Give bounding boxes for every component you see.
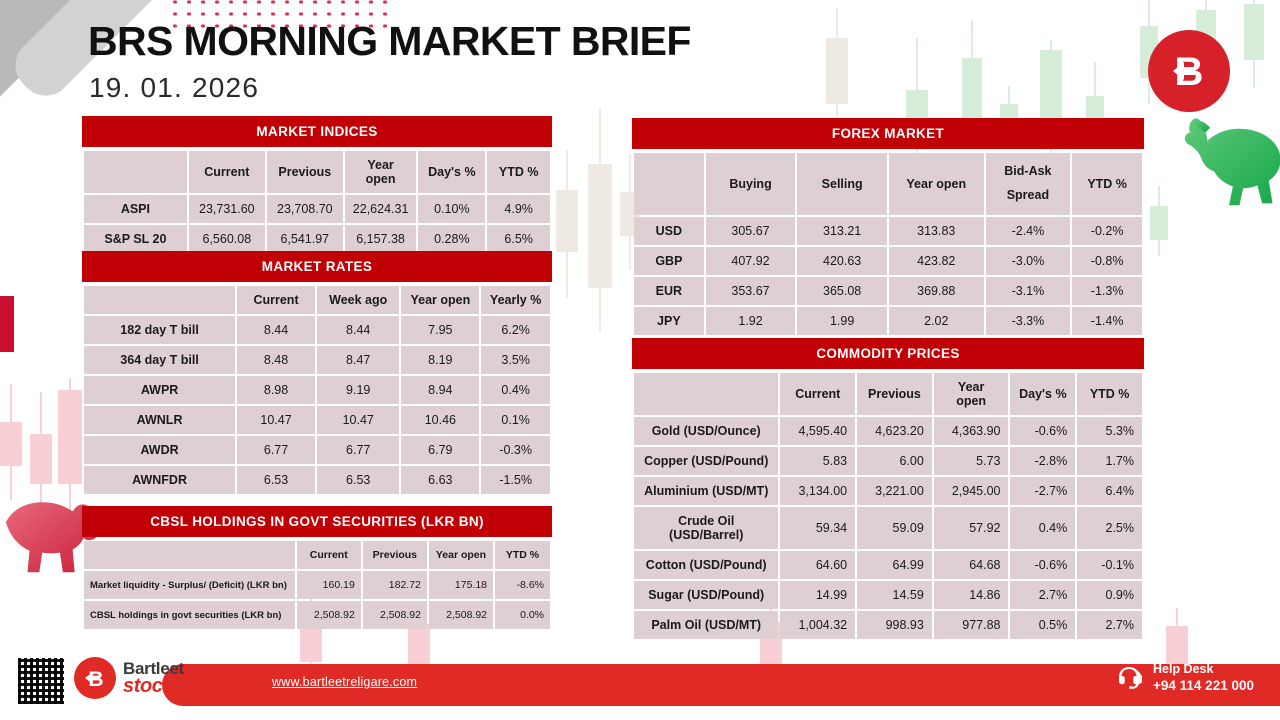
cell-value: 423.82 — [889, 247, 984, 275]
background-candlestick — [0, 384, 22, 500]
cell-value: 1.7% — [1077, 447, 1142, 475]
column-header — [634, 373, 778, 415]
cell-value: -0.1% — [1077, 551, 1142, 579]
table-header-row: Current Week ago Year open Yearly % — [84, 286, 550, 314]
column-header: YTD % — [1077, 373, 1142, 415]
cell-value: 3,134.00 — [780, 477, 855, 505]
website-link[interactable]: www.bartleetreligare.com — [272, 675, 417, 689]
row-label: S&P SL 20 — [84, 225, 187, 253]
row-label: JPY — [634, 307, 704, 335]
background-candlestick — [826, 8, 848, 128]
table-row: GBP 407.92 420.63 423.82 -3.0% -0.8% — [634, 247, 1142, 275]
cell-value: 6,157.38 — [345, 225, 417, 253]
brand-b-glyph: B — [80, 663, 110, 693]
row-label: USD — [634, 217, 704, 245]
commodity-prices-panel: COMMODITY PRICES Current Previous Year o… — [632, 338, 1144, 641]
table-row: AWDR 6.77 6.77 6.79 -0.3% — [84, 436, 550, 464]
cell-value: 64.60 — [780, 551, 855, 579]
cell-value: 5.83 — [780, 447, 855, 475]
cell-value: 6.5% — [487, 225, 550, 253]
forex-market-table: Buying Selling Year open Bid-Ask Spread … — [632, 151, 1144, 337]
cell-value: 313.21 — [797, 217, 887, 245]
svg-text:B: B — [88, 668, 103, 691]
cell-value: -2.8% — [1010, 447, 1075, 475]
cbsl-holdings-title: CBSL HOLDINGS IN GOVT SECURITIES (LKR BN… — [82, 506, 552, 537]
row-label: Sugar (USD/Pound) — [634, 581, 778, 609]
cell-value: 2.02 — [889, 307, 984, 335]
cell-value: 2.7% — [1077, 611, 1142, 639]
column-header — [634, 153, 704, 215]
cell-value: 1.99 — [797, 307, 887, 335]
column-header: Year open — [345, 151, 417, 193]
column-header: YTD % — [495, 541, 550, 569]
cell-value: 6.53 — [237, 466, 315, 494]
cell-value: 6.53 — [317, 466, 399, 494]
cell-value: 5.73 — [934, 447, 1009, 475]
cell-value: -0.6% — [1010, 417, 1075, 445]
table-row: ASPI 23,731.60 23,708.70 22,624.31 0.10%… — [84, 195, 550, 223]
brand-circle-icon: B — [74, 657, 116, 699]
cell-value: 3.5% — [481, 346, 550, 374]
background-candlestick — [1150, 186, 1168, 256]
cell-value: 0.1% — [481, 406, 550, 434]
bid-ask-line1: Bid-Ask — [1004, 164, 1051, 178]
cell-value: 22,624.31 — [345, 195, 417, 223]
cell-value: 6.4% — [1077, 477, 1142, 505]
column-header: Year open — [889, 153, 984, 215]
row-label: GBP — [634, 247, 704, 275]
column-header: Current — [297, 541, 361, 569]
cell-value: 6.77 — [317, 436, 399, 464]
row-label: Palm Oil (USD/MT) — [634, 611, 778, 639]
cell-value: 64.99 — [857, 551, 932, 579]
cell-value: 0.0% — [495, 601, 550, 629]
cell-value: -0.3% — [481, 436, 550, 464]
cell-value: 420.63 — [797, 247, 887, 275]
table-row: AWNLR 10.47 10.47 10.46 0.1% — [84, 406, 550, 434]
table-row: Crude Oil (USD/Barrel) 59.34 59.09 57.92… — [634, 507, 1142, 549]
cell-value: -0.8% — [1072, 247, 1142, 275]
table-header-row: Current Previous Year open Day's % YTD % — [634, 373, 1142, 415]
table-row: Palm Oil (USD/MT) 1,004.32 998.93 977.88… — [634, 611, 1142, 639]
table-row: AWPR 8.98 9.19 8.94 0.4% — [84, 376, 550, 404]
cell-value: 7.95 — [401, 316, 479, 344]
background-candlestick — [1244, 0, 1264, 88]
bull-icon — [1178, 108, 1280, 208]
column-header — [84, 286, 235, 314]
cell-value: 1.92 — [706, 307, 796, 335]
cell-value: 14.86 — [934, 581, 1009, 609]
cell-value: -0.2% — [1072, 217, 1142, 245]
cell-value: 4.9% — [487, 195, 550, 223]
column-header — [84, 541, 295, 569]
cbsl-holdings-panel: CBSL HOLDINGS IN GOVT SECURITIES (LKR BN… — [82, 506, 552, 631]
table-row: Sugar (USD/Pound) 14.99 14.59 14.86 2.7%… — [634, 581, 1142, 609]
forex-market-title: FOREX MARKET — [632, 118, 1144, 149]
column-header: Selling — [797, 153, 887, 215]
cell-value: 6.63 — [401, 466, 479, 494]
cell-value: 0.4% — [1010, 507, 1075, 549]
background-candlestick — [556, 150, 578, 298]
brand-b-glyph: B — [1161, 43, 1217, 99]
cell-value: -8.6% — [495, 571, 550, 599]
market-rates-title: MARKET RATES — [82, 251, 552, 282]
cell-value: 5.3% — [1077, 417, 1142, 445]
cell-value: 353.67 — [706, 277, 796, 305]
column-header: Buying — [706, 153, 796, 215]
market-indices-title: MARKET INDICES — [82, 116, 552, 147]
column-header: Year open — [429, 541, 493, 569]
column-header-bid-ask: Bid-Ask Spread — [986, 153, 1071, 215]
column-header: Year open — [401, 286, 479, 314]
cell-value: -1.3% — [1072, 277, 1142, 305]
cell-value: -3.3% — [986, 307, 1071, 335]
footer-brand-logo: B Bartleet stock — [74, 657, 184, 699]
row-label: AWDR — [84, 436, 235, 464]
cell-value: 59.34 — [780, 507, 855, 549]
table-row: Aluminium (USD/MT) 3,134.00 3,221.00 2,9… — [634, 477, 1142, 505]
cell-value: 1,004.32 — [780, 611, 855, 639]
row-label: ASPI — [84, 195, 187, 223]
cell-value: 3,221.00 — [857, 477, 932, 505]
cell-value: 10.47 — [237, 406, 315, 434]
cell-value: 4,623.20 — [857, 417, 932, 445]
cell-value: 8.19 — [401, 346, 479, 374]
table-header-row: Buying Selling Year open Bid-Ask Spread … — [634, 153, 1142, 215]
table-row: AWNFDR 6.53 6.53 6.63 -1.5% — [84, 466, 550, 494]
help-desk[interactable]: Help Desk +94 114 221 000 — [1114, 662, 1254, 695]
cell-value: 998.93 — [857, 611, 932, 639]
help-desk-phone: +94 114 221 000 — [1153, 678, 1254, 695]
cell-value: 8.47 — [317, 346, 399, 374]
cell-value: 10.46 — [401, 406, 479, 434]
cell-value: 2.7% — [1010, 581, 1075, 609]
row-label: 364 day T bill — [84, 346, 235, 374]
cell-value: 23,708.70 — [267, 195, 343, 223]
cell-value: 313.83 — [889, 217, 984, 245]
column-header: Previous — [857, 373, 932, 415]
cell-value: 8.98 — [237, 376, 315, 404]
column-header: Week ago — [317, 286, 399, 314]
column-header: Previous — [267, 151, 343, 193]
cell-value: 2,508.92 — [363, 601, 427, 629]
cell-value: 305.67 — [706, 217, 796, 245]
cell-value: 6.00 — [857, 447, 932, 475]
table-row: JPY 1.92 1.99 2.02 -3.3% -1.4% — [634, 307, 1142, 335]
row-label: CBSL holdings in govt securities (LKR bn… — [84, 601, 295, 629]
cell-value: 64.68 — [934, 551, 1009, 579]
table-header-row: Current Previous Year open YTD % — [84, 541, 550, 569]
svg-text:B: B — [1175, 50, 1204, 94]
help-desk-text: Help Desk +94 114 221 000 — [1153, 662, 1254, 695]
cbsl-holdings-table: Current Previous Year open YTD % Market … — [82, 539, 552, 631]
cell-value: 175.18 — [429, 571, 493, 599]
table-row: EUR 353.67 365.08 369.88 -3.1% -1.3% — [634, 277, 1142, 305]
market-brief-page: BRS MORNING MARKET BRIEF 19. 01. 2026 B … — [0, 0, 1280, 720]
cell-value: 14.59 — [857, 581, 932, 609]
table-row: Cotton (USD/Pound) 64.60 64.99 64.68 -0.… — [634, 551, 1142, 579]
cell-value: -3.1% — [986, 277, 1071, 305]
cell-value: -2.4% — [986, 217, 1071, 245]
cell-value: 6.77 — [237, 436, 315, 464]
row-label: Crude Oil (USD/Barrel) — [634, 507, 778, 549]
row-label: Gold (USD/Ounce) — [634, 417, 778, 445]
cell-value: 2.5% — [1077, 507, 1142, 549]
help-desk-label: Help Desk — [1153, 662, 1254, 678]
row-label: AWPR — [84, 376, 235, 404]
row-label: AWNLR — [84, 406, 235, 434]
column-header: Yearly % — [481, 286, 550, 314]
market-rates-panel: MARKET RATES Current Week ago Year open … — [82, 251, 552, 496]
cell-value: 4,363.90 — [934, 417, 1009, 445]
column-header: Current — [189, 151, 265, 193]
cell-value: 9.19 — [317, 376, 399, 404]
cell-value: 365.08 — [797, 277, 887, 305]
cell-value: -0.6% — [1010, 551, 1075, 579]
table-row: Copper (USD/Pound) 5.83 6.00 5.73 -2.8% … — [634, 447, 1142, 475]
table-row: S&P SL 20 6,560.08 6,541.97 6,157.38 0.2… — [84, 225, 550, 253]
cell-value: 8.44 — [237, 316, 315, 344]
background-candlestick — [30, 392, 52, 514]
cell-value: 2,508.92 — [297, 601, 361, 629]
cell-value: 6,560.08 — [189, 225, 265, 253]
cell-value: 2,945.00 — [934, 477, 1009, 505]
table-row: Gold (USD/Ounce) 4,595.40 4,623.20 4,363… — [634, 417, 1142, 445]
column-header: Year open — [934, 373, 1009, 415]
market-rates-table: Current Week ago Year open Yearly % 182 … — [82, 284, 552, 496]
background-candlestick — [588, 108, 612, 332]
row-label: EUR — [634, 277, 704, 305]
row-label: Copper (USD/Pound) — [634, 447, 778, 475]
row-label: Market liquidity - Surplus/ (Deficit) (L… — [84, 571, 295, 599]
cell-value: 0.4% — [481, 376, 550, 404]
cell-value: -3.0% — [986, 247, 1071, 275]
cell-value: 23,731.60 — [189, 195, 265, 223]
column-header: Current — [780, 373, 855, 415]
cell-value: 0.28% — [418, 225, 485, 253]
table-row: USD 305.67 313.21 313.83 -2.4% -0.2% — [634, 217, 1142, 245]
cell-value: 6.2% — [481, 316, 550, 344]
corner-ribbon — [0, 0, 55, 125]
cell-value: 6.79 — [401, 436, 479, 464]
market-indices-table: Current Previous Year open Day's % YTD %… — [82, 149, 552, 255]
qr-code[interactable] — [18, 658, 64, 704]
commodity-prices-table: Current Previous Year open Day's % YTD %… — [632, 371, 1144, 641]
cell-value: 369.88 — [889, 277, 984, 305]
table-row: 364 day T bill 8.48 8.47 8.19 3.5% — [84, 346, 550, 374]
column-header: Previous — [363, 541, 427, 569]
cell-value: 57.92 — [934, 507, 1009, 549]
cell-value: -1.5% — [481, 466, 550, 494]
brand-wordmark: Bartleet stock — [123, 660, 184, 696]
row-label: 182 day T bill — [84, 316, 235, 344]
table-row: CBSL holdings in govt securities (LKR bn… — [84, 601, 550, 629]
cell-value: 2,508.92 — [429, 601, 493, 629]
headset-icon — [1114, 663, 1144, 693]
forex-market-panel: FOREX MARKET Buying Selling Year open Bi… — [632, 118, 1144, 337]
cell-value: 182.72 — [363, 571, 427, 599]
brand-name-bottom: stock — [123, 676, 184, 696]
row-label: Aluminium (USD/MT) — [634, 477, 778, 505]
cell-value: 14.99 — [780, 581, 855, 609]
market-indices-panel: MARKET INDICES Current Previous Year ope… — [82, 116, 552, 255]
row-label: Cotton (USD/Pound) — [634, 551, 778, 579]
row-label: AWNFDR — [84, 466, 235, 494]
cell-value: 8.48 — [237, 346, 315, 374]
cell-value: 0.5% — [1010, 611, 1075, 639]
column-header — [84, 151, 187, 193]
cell-value: 6,541.97 — [267, 225, 343, 253]
cell-value: 4,595.40 — [780, 417, 855, 445]
column-header: YTD % — [1072, 153, 1142, 215]
brand-logo-icon: B — [1148, 30, 1230, 112]
cell-value: 59.09 — [857, 507, 932, 549]
cell-value: 8.44 — [317, 316, 399, 344]
cell-value: 10.47 — [317, 406, 399, 434]
table-row: Market liquidity - Surplus/ (Deficit) (L… — [84, 571, 550, 599]
commodity-prices-title: COMMODITY PRICES — [632, 338, 1144, 369]
page-date: 19. 01. 2026 — [89, 72, 259, 104]
bid-ask-line2: Spread — [1007, 188, 1049, 202]
cell-value: -1.4% — [1072, 307, 1142, 335]
cell-value: 407.92 — [706, 247, 796, 275]
table-header-row: Current Previous Year open Day's % YTD % — [84, 151, 550, 193]
cell-value: 977.88 — [934, 611, 1009, 639]
column-header: YTD % — [487, 151, 550, 193]
cell-value: 8.94 — [401, 376, 479, 404]
page-title: BRS MORNING MARKET BRIEF — [88, 18, 691, 65]
cell-value: 160.19 — [297, 571, 361, 599]
cell-value: 0.10% — [418, 195, 485, 223]
cell-value: -2.7% — [1010, 477, 1075, 505]
cell-value: 0.9% — [1077, 581, 1142, 609]
column-header: Current — [237, 286, 315, 314]
left-edge-accent-block — [0, 296, 14, 352]
table-row: 182 day T bill 8.44 8.44 7.95 6.2% — [84, 316, 550, 344]
background-candlestick — [58, 378, 82, 516]
column-header: Day's % — [418, 151, 485, 193]
column-header: Day's % — [1010, 373, 1075, 415]
